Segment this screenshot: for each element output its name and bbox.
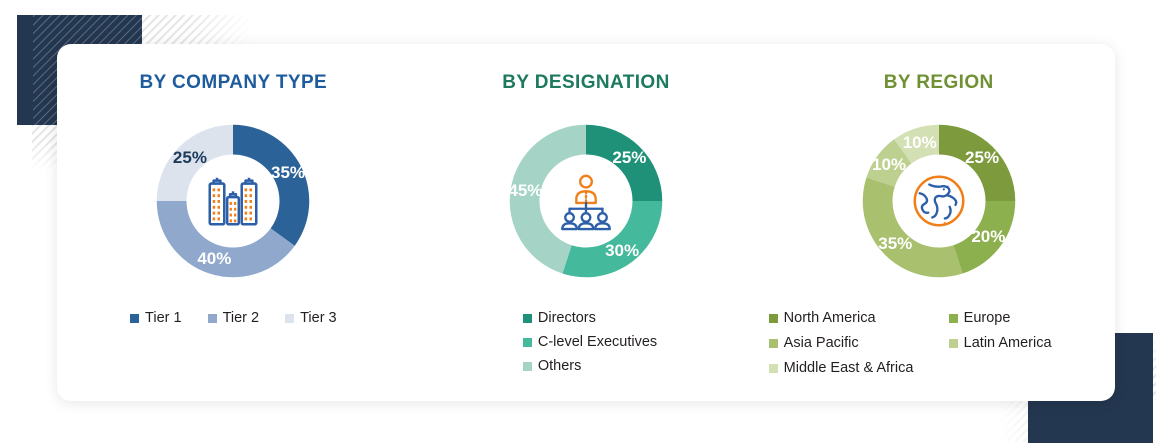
legend-region: North AmericaEuropeAsia PacificLatin Ame… (769, 310, 1109, 376)
legend-label: Europe (964, 310, 1011, 326)
panel-title-designation: BY DESIGNATION (502, 72, 669, 94)
legend-label: Latin America (964, 335, 1052, 351)
legend-label: Middle East & Africa (784, 360, 914, 376)
panel-region: BY REGION (762, 44, 1115, 401)
legend-swatch (769, 314, 778, 323)
legend-item[interactable]: Tier 2 (208, 310, 260, 326)
panel-title-region: BY REGION (884, 72, 994, 94)
panel-designation: BY DESIGNATION (410, 44, 763, 401)
panel-row: BY COMPANY TYPE (57, 44, 1115, 401)
legend-item[interactable]: Tier 3 (285, 310, 337, 326)
legend-item[interactable]: Europe (949, 310, 1109, 326)
legend-item[interactable]: Middle East & Africa (769, 360, 1109, 376)
legend-item[interactable]: Latin America (949, 335, 1109, 351)
legend-item[interactable]: North America (769, 310, 945, 326)
legend-label: Directors (538, 310, 596, 326)
legend-swatch (285, 314, 294, 323)
legend-swatch (769, 364, 778, 373)
legend-label: C-level Executives (538, 334, 657, 350)
legend-label: Others (538, 358, 582, 374)
legend-swatch (769, 339, 778, 348)
donut-chart-designation: 25%30%45% (493, 108, 679, 294)
panel-title-company-type: BY COMPANY TYPE (140, 72, 328, 94)
legend-label: North America (784, 310, 876, 326)
legend-label: Tier 1 (145, 310, 182, 326)
legend-label: Tier 3 (300, 310, 337, 326)
legend-item[interactable]: Directors (523, 310, 596, 326)
legend-label: Tier 2 (223, 310, 260, 326)
legend-designation: DirectorsC-level ExecutivesOthers (523, 310, 657, 374)
legend-item[interactable]: Asia Pacific (769, 335, 945, 351)
globe-icon (908, 170, 970, 232)
infographic-card: BY COMPANY TYPE (57, 44, 1115, 401)
legend-company-type: Tier 1Tier 2Tier 3 (130, 310, 337, 326)
legend-item[interactable]: Tier 1 (130, 310, 182, 326)
legend-label: Asia Pacific (784, 335, 859, 351)
org-chart-icon (555, 170, 617, 232)
buildings-icon (202, 170, 264, 232)
legend-swatch (523, 362, 532, 371)
bottom-right-stripe-band (1000, 396, 1110, 442)
legend-swatch (130, 314, 139, 323)
legend-swatch (208, 314, 217, 323)
panel-company-type: BY COMPANY TYPE (57, 44, 410, 401)
legend-swatch (523, 314, 532, 323)
legend-item[interactable]: C-level Executives (523, 334, 657, 350)
legend-swatch (949, 339, 958, 348)
donut-chart-company-type: 35%40%25% (140, 108, 326, 294)
legend-item[interactable]: Others (523, 358, 582, 374)
legend-swatch (949, 314, 958, 323)
legend-swatch (523, 338, 532, 347)
donut-chart-region: 25%20%35%10%10% (846, 108, 1032, 294)
